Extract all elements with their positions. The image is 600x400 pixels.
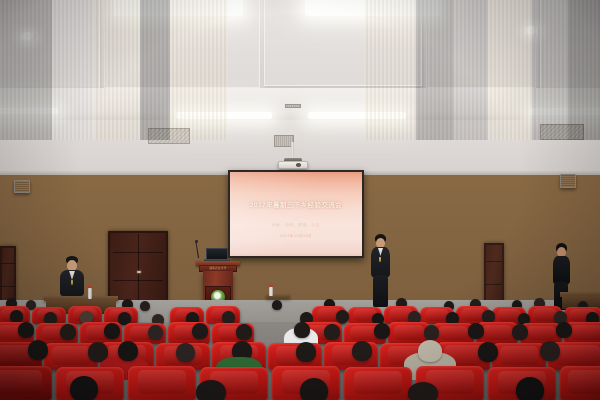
wall-panel [568,0,600,140]
audience-head [418,340,442,362]
water-bottle [269,287,273,296]
slide-subtitle: 动医、动科、机电、人文 [230,223,362,228]
slide-title: 2017年暑期三下乡经验交流会 [230,200,362,209]
wall-speaker-right [560,174,576,188]
audience-head [478,342,498,362]
audience-head [374,323,390,339]
audience-head [516,377,544,400]
wall-panel [416,0,454,140]
audience-head [408,382,438,400]
audience-head [324,324,340,340]
audience-head [236,324,252,340]
wall-panel [454,0,488,140]
audience-head [18,322,34,338]
wall-panel [52,0,94,140]
water-bottle-cap [88,286,92,288]
audience-head [556,322,572,338]
wall-panel [140,0,170,140]
audience-head [352,341,372,361]
audience-head [104,323,120,339]
podium-microphone-head [195,240,198,243]
handheld-microphone [379,257,381,262]
podium-nameplate-text: 湖南农业大学 [199,266,237,270]
ceiling-projector[interactable] [278,161,308,169]
door-handle-icon[interactable] [137,271,141,273]
audience-head [60,324,76,340]
audience-head [176,343,195,362]
audience-head [148,325,163,340]
audience-head [424,325,439,340]
slide-date: 2017年10月23日 [230,234,362,239]
auditorium-photo: 2017年暑期三下乡经验交流会 动医、动科、机电、人文 2017年10月23日 … [0,0,600,400]
projection-screen-surface: 2017年暑期三下乡经验交流会 动医、动科、机电、人文 2017年10月23日 [230,172,362,256]
air-vent [285,104,301,108]
audience-head [118,341,138,361]
audience-head [300,378,328,400]
water-bottle-cap [269,285,273,287]
wall-panel [170,0,228,140]
handheld-microphone [71,280,73,285]
wall-panel [0,0,52,140]
audience-head [468,323,484,339]
audience-head [70,376,98,400]
audience-head [28,340,48,360]
seat-row [0,372,600,400]
audience-head [512,324,528,340]
wall-panel [94,0,140,140]
projection-screen[interactable]: 2017年暑期三下乡经验交流会 动医、动科、机电、人文 2017年10月23日 [228,170,364,258]
audience-head [540,341,560,361]
audience-head [192,323,208,339]
audience-head [296,342,316,362]
presenter-torso [553,256,570,284]
wall-speaker-left [14,180,30,193]
audience-head [196,380,226,400]
wall-panel [364,0,416,140]
projector-lens-icon [296,163,301,167]
wall-panel [532,0,568,140]
audience-head [294,322,310,338]
door-center-seam [138,234,139,304]
wall-panel [488,0,532,140]
